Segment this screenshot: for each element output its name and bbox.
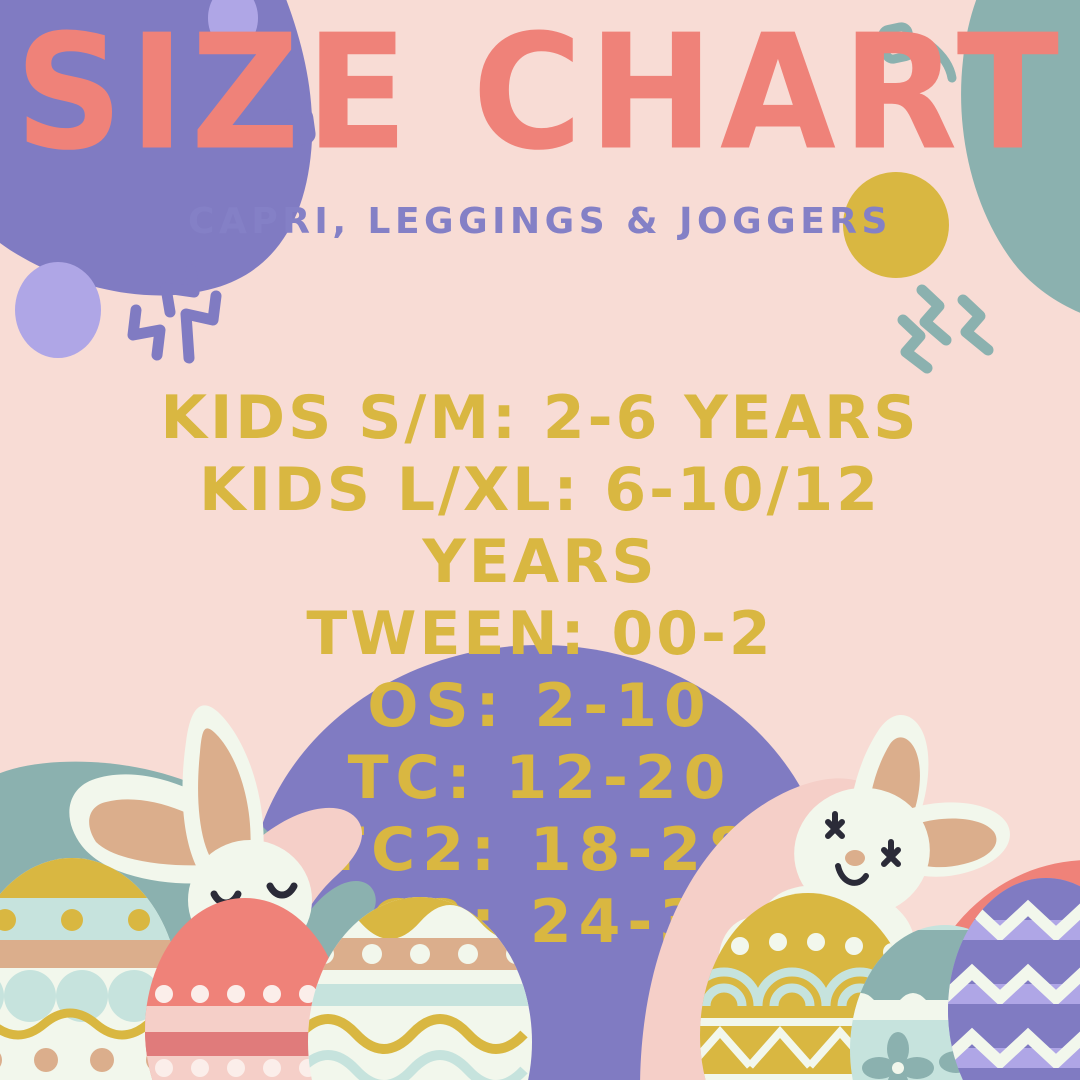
size-chart-poster: SIZE CHART CAPRI, LEGGINGS & JOGGERS KID…: [0, 0, 1080, 1080]
bunny-right-nose: [845, 850, 865, 866]
easter-egg-purple-chevron: [944, 878, 1080, 1080]
easter-illustration: [0, 0, 1080, 1080]
